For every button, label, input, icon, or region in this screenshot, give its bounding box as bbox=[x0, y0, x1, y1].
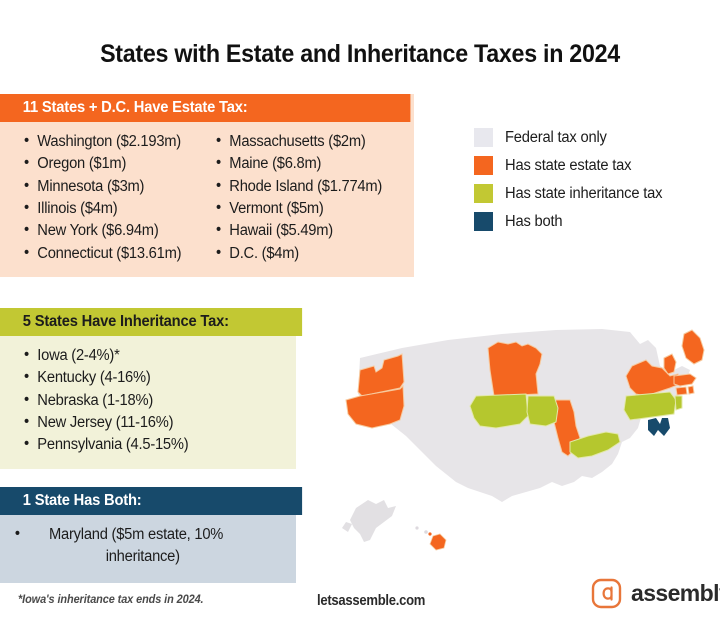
list-item: Washington ($2.193m) bbox=[24, 131, 206, 153]
list-item: Hawaii ($5.49m) bbox=[216, 220, 382, 242]
legend-item-state-estate-tax: Has state estate tax bbox=[474, 156, 671, 175]
state-minnesota bbox=[488, 342, 542, 396]
list-item: Illinois ($4m) bbox=[24, 198, 206, 220]
hawaii-islet-shape bbox=[415, 526, 418, 529]
list-item: Maryland ($5m estate, 10% inheritance) bbox=[24, 524, 248, 569]
list-item: D.C. ($4m) bbox=[216, 243, 382, 265]
state-nebraska bbox=[470, 394, 528, 428]
list-item: Oregon ($1m) bbox=[24, 153, 206, 175]
state-hawaii bbox=[430, 534, 446, 550]
has-both-list: Maryland ($5m estate, 10% inheritance) bbox=[24, 524, 296, 569]
map-has-both-states bbox=[648, 418, 670, 436]
list-item: New York ($6.94m) bbox=[24, 220, 206, 242]
legend-item-state-inheritance-tax: Has state inheritance tax bbox=[474, 184, 671, 203]
legend-swatch-icon bbox=[474, 128, 493, 147]
legend-label: Has state inheritance tax bbox=[505, 185, 662, 203]
map-legend: Federal tax only Has state estate tax Ha… bbox=[474, 128, 671, 240]
state-massachusetts bbox=[674, 374, 696, 386]
list-item: Minnesota ($3m) bbox=[24, 176, 206, 198]
estate-tax-column-right: Massachusetts ($2m) Maine ($6.8m) Rhode … bbox=[216, 131, 391, 265]
has-both-panel: 1 State Has Both: Maryland ($5m estate, … bbox=[0, 487, 296, 583]
state-vermont bbox=[664, 354, 676, 374]
legend-item-has-both: Has both bbox=[474, 212, 671, 231]
page-title: States with Estate and Inheritance Taxes… bbox=[25, 40, 695, 69]
legend-label: Federal tax only bbox=[505, 129, 607, 147]
list-item: Maine ($6.8m) bbox=[216, 153, 382, 175]
estate-tax-list-right: Massachusetts ($2m) Maine ($6.8m) Rhode … bbox=[216, 131, 391, 265]
state-hawaii-islet bbox=[428, 532, 431, 535]
list-item: Connecticut ($13.61m) bbox=[24, 243, 206, 265]
state-maine bbox=[682, 330, 704, 364]
estate-tax-panel-header: 11 States + D.C. Have Estate Tax: bbox=[0, 94, 410, 122]
hawaii-islet-shape bbox=[424, 530, 428, 534]
list-item: Nebraska (1-18%) bbox=[24, 390, 282, 412]
assembly-logo-icon bbox=[591, 578, 622, 609]
legend-swatch-icon bbox=[474, 184, 493, 203]
list-item: Pennsylvania (4.5-15%) bbox=[24, 434, 282, 456]
state-rhode-island bbox=[688, 386, 694, 394]
state-pennsylvania bbox=[624, 392, 676, 420]
estate-tax-panel: 11 States + D.C. Have Estate Tax: Washin… bbox=[0, 94, 414, 277]
list-item: Kentucky (4-16%) bbox=[24, 367, 282, 389]
legend-label: Has both bbox=[505, 213, 562, 231]
state-new-jersey bbox=[675, 396, 682, 410]
has-both-panel-header: 1 State Has Both: bbox=[0, 487, 302, 515]
inheritance-tax-list: Iowa (2-4%)* Kentucky (4-16%) Nebraska (… bbox=[24, 345, 296, 457]
list-item: New Jersey (11-16%) bbox=[24, 412, 282, 434]
alaska-shape bbox=[342, 500, 396, 542]
inheritance-tax-panel-header: 5 States Have Inheritance Tax: bbox=[0, 308, 302, 336]
legend-item-federal-tax-only: Federal tax only bbox=[474, 128, 671, 147]
list-item: Iowa (2-4%)* bbox=[24, 345, 282, 367]
state-maryland bbox=[648, 418, 670, 436]
footnote: *Iowa's inheritance tax ends in 2024. bbox=[18, 594, 204, 606]
inheritance-tax-panel: 5 States Have Inheritance Tax: Iowa (2-4… bbox=[0, 308, 296, 469]
state-iowa bbox=[527, 396, 558, 426]
brand-name: assembly bbox=[631, 580, 720, 607]
legend-swatch-icon bbox=[474, 212, 493, 231]
list-item: Rhode Island ($1.774m) bbox=[216, 176, 382, 198]
estate-tax-column-left: Washington ($2.193m) Oregon ($1m) Minnes… bbox=[24, 131, 216, 265]
list-item: Massachusetts ($2m) bbox=[216, 131, 382, 153]
us-map bbox=[330, 296, 720, 581]
state-connecticut bbox=[676, 387, 687, 395]
estate-tax-list-left: Washington ($2.193m) Oregon ($1m) Minnes… bbox=[24, 131, 216, 265]
legend-label: Has state estate tax bbox=[505, 157, 631, 175]
brand-logo: assembly bbox=[591, 578, 720, 609]
legend-swatch-icon bbox=[474, 156, 493, 175]
site-url[interactable]: letsassemble.com bbox=[317, 593, 425, 609]
list-item: Vermont ($5m) bbox=[216, 198, 382, 220]
